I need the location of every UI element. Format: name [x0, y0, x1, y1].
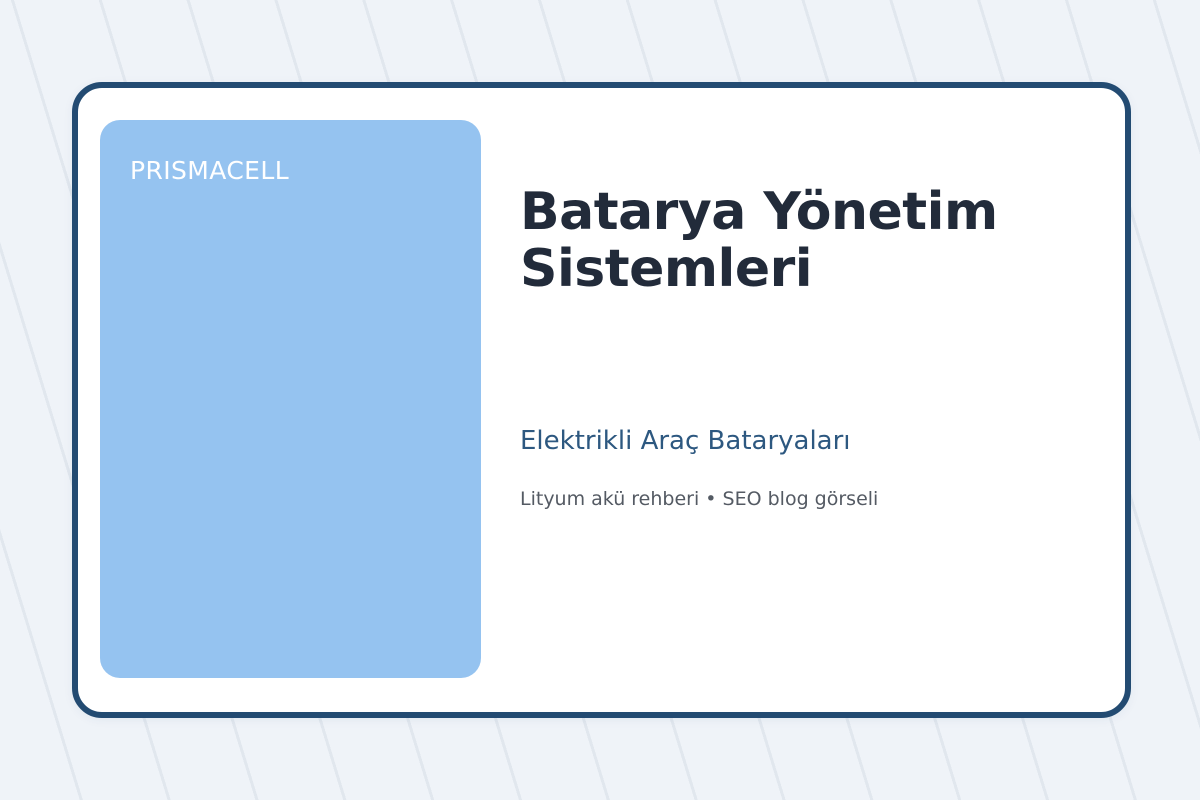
caption-text: Lityum akü rehberi • SEO blog görseli — [520, 486, 878, 512]
brand-image-panel: PRISMACELL — [100, 120, 481, 678]
subtitle-text: Elektrikli Araç Bataryaları — [520, 425, 851, 457]
card-inner: PRISMACELL Batarya Yönetim Sistemleri El… — [78, 88, 1125, 712]
page-title: Batarya Yönetim Sistemleri — [520, 184, 1040, 298]
page-root: PRISMACELL Batarya Yönetim Sistemleri El… — [0, 0, 1200, 800]
brand-label: PRISMACELL — [130, 156, 289, 185]
content-card: PRISMACELL Batarya Yönetim Sistemleri El… — [72, 82, 1131, 718]
card-content: Batarya Yönetim Sistemleri Elektrikli Ar… — [520, 88, 1125, 712]
